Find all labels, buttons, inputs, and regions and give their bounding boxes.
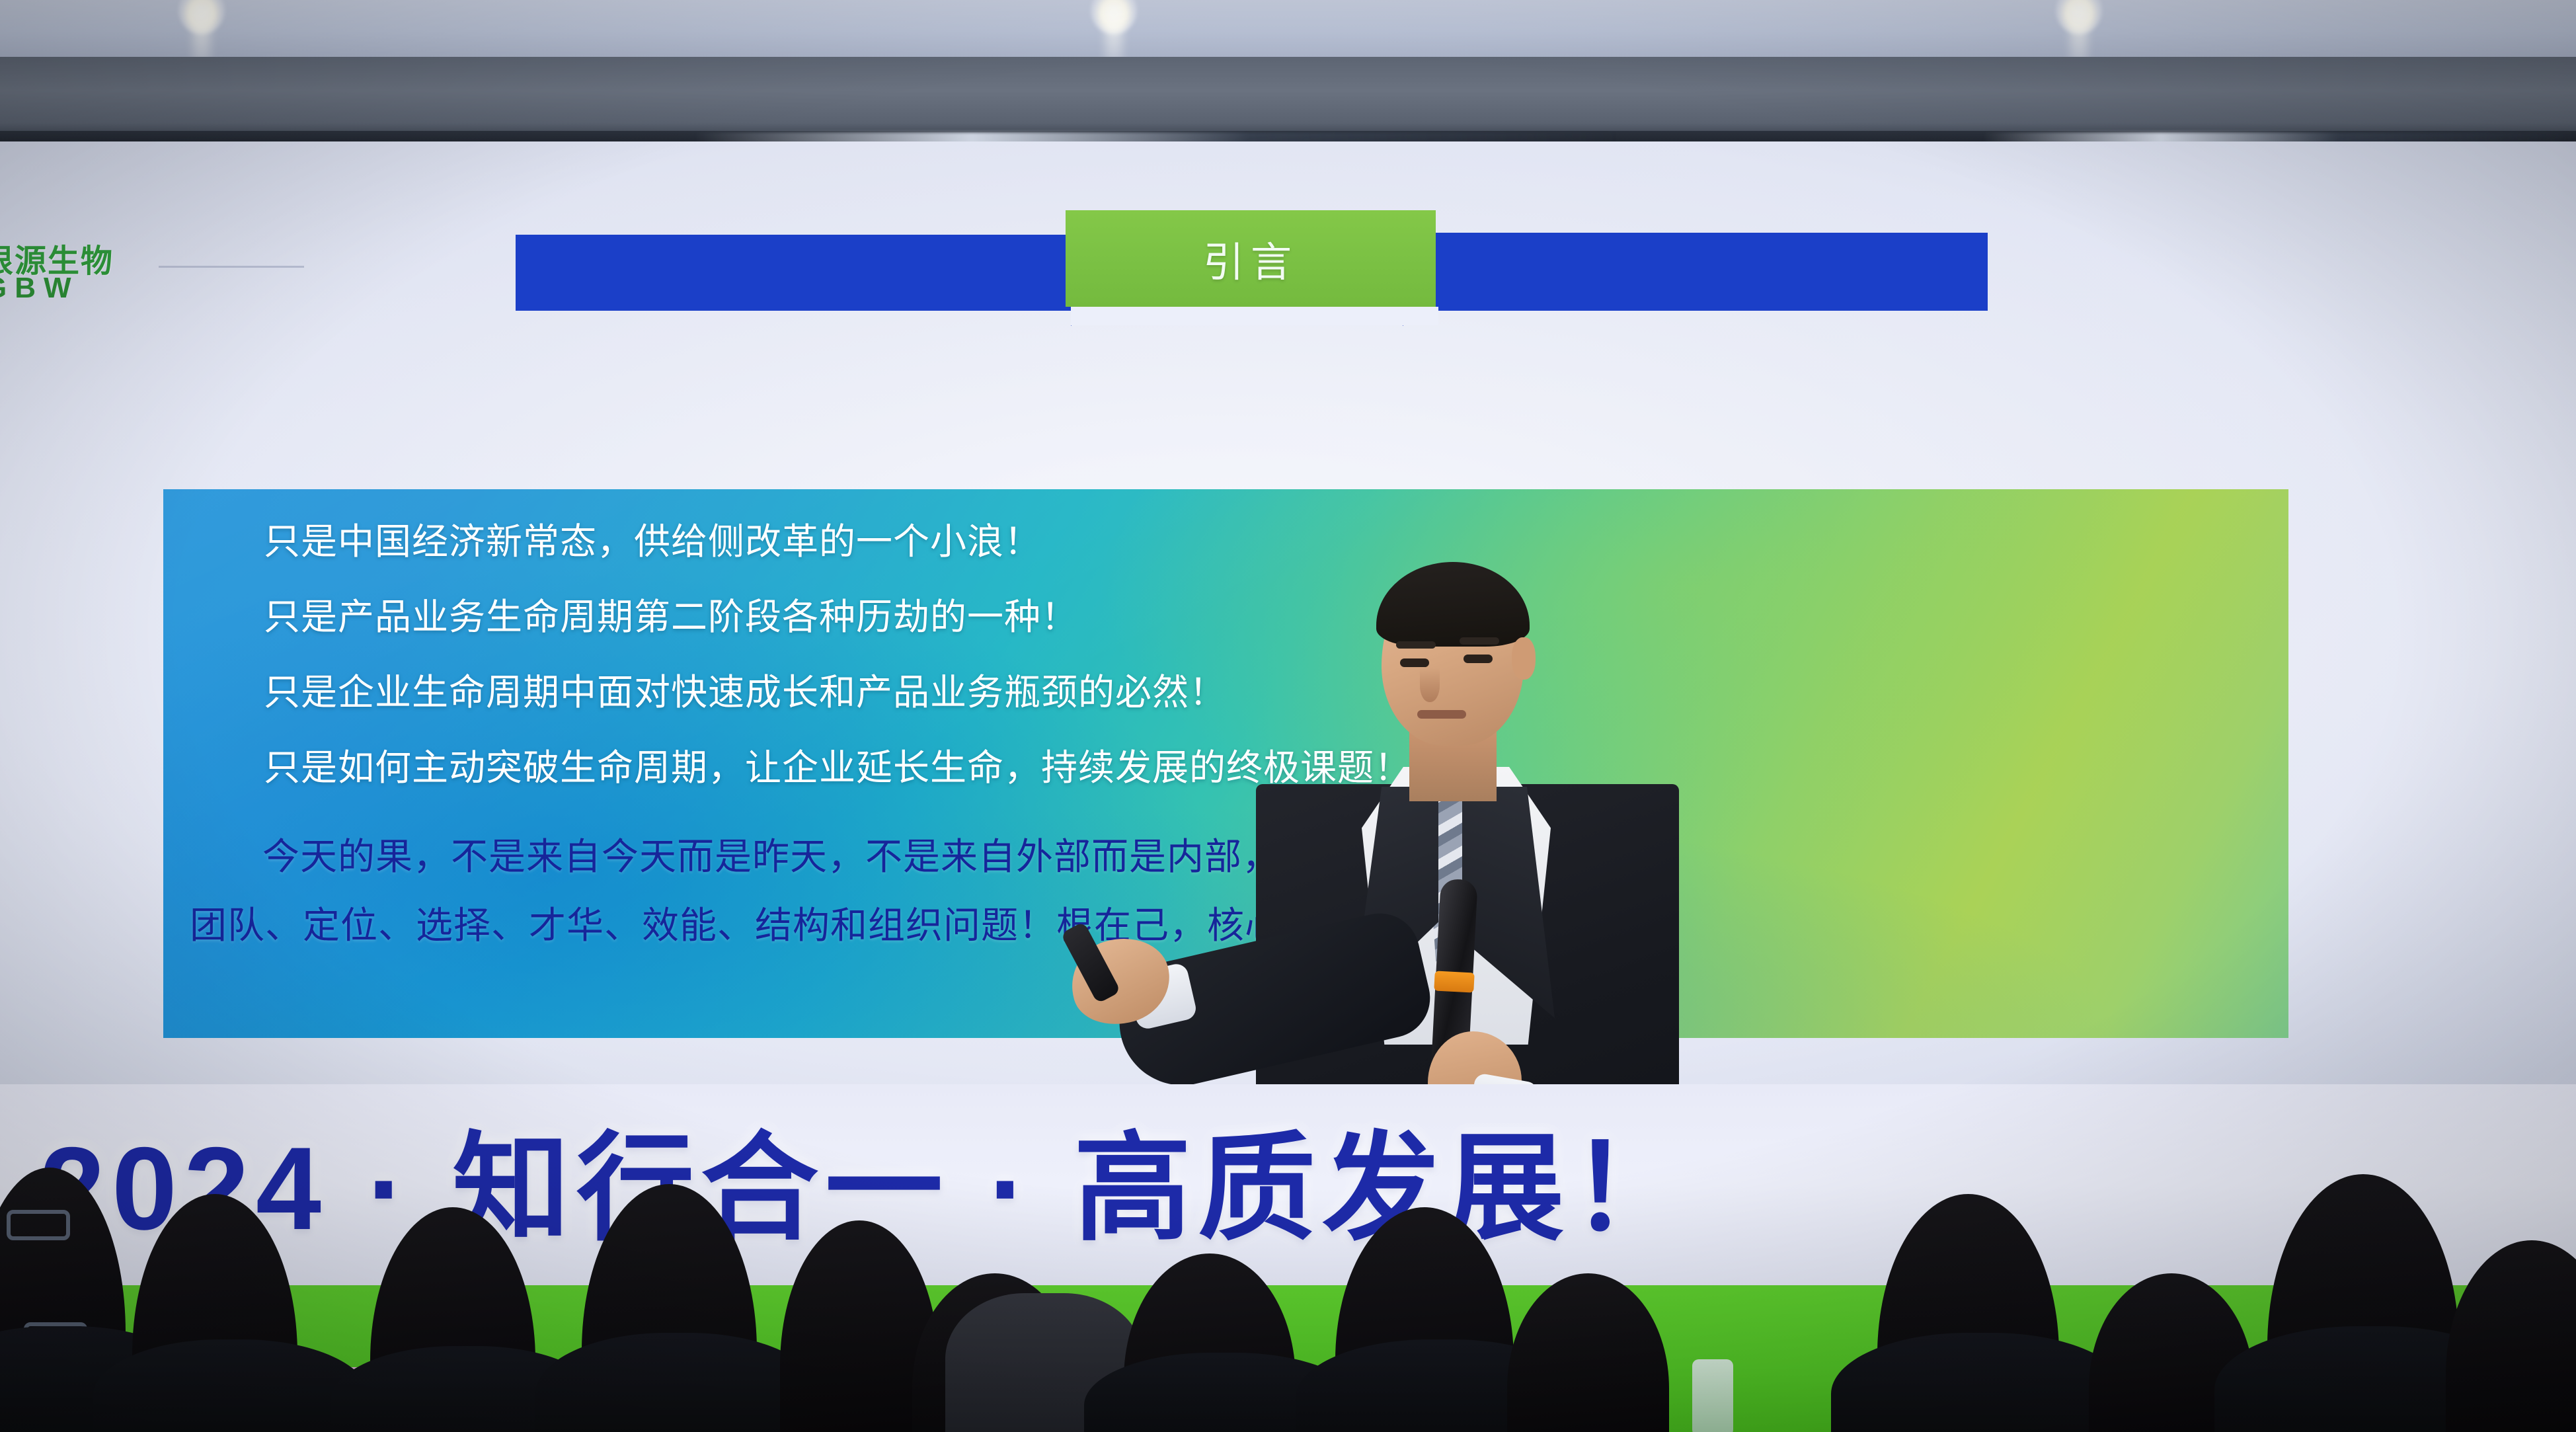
logo-divider xyxy=(159,266,304,268)
backdrop-green-slogan: 爱 · 创值 · 共赢 xyxy=(2063,1346,2457,1406)
photo-scene: 根源生物 GBW 引言 只是中国经济新常态，供给侧改革的一个小浪！ 只是产品业务… xyxy=(0,0,2576,1432)
pink-placard xyxy=(282,1367,419,1432)
microphone-band xyxy=(1434,971,1474,992)
ceiling-soffit xyxy=(0,57,2576,141)
speaker-hair xyxy=(1376,562,1530,647)
header-underplate xyxy=(1071,307,1438,325)
slide-title: 引言 xyxy=(1203,229,1298,288)
ceiling xyxy=(0,0,2576,57)
header-bar-right xyxy=(1403,233,1988,311)
header-bar-left xyxy=(516,235,1071,311)
speaker-eyebrow xyxy=(1396,641,1436,649)
slide-line: 只是中国经济新常态，供给侧改革的一个小浪！ xyxy=(264,524,2249,560)
speaker-eye xyxy=(1464,655,1493,663)
speaker-nose xyxy=(1420,668,1440,702)
backdrop-slogan: 2024 · 知行合一 · 高质发展！ xyxy=(40,1094,2538,1263)
speaker-ear xyxy=(1512,637,1536,680)
speaker-eyebrow xyxy=(1460,637,1499,645)
company-logo: 根源生物 GBW xyxy=(0,235,147,307)
slide-title-banner: 引言 xyxy=(1066,210,1436,307)
logo-latin-text: GBW xyxy=(0,272,79,305)
backdrop-slogan-band: 2024 · 知行合一 · 高质发展！ xyxy=(0,1084,2576,1285)
speaker-eye xyxy=(1400,658,1429,667)
speaker-mouth xyxy=(1417,710,1466,719)
